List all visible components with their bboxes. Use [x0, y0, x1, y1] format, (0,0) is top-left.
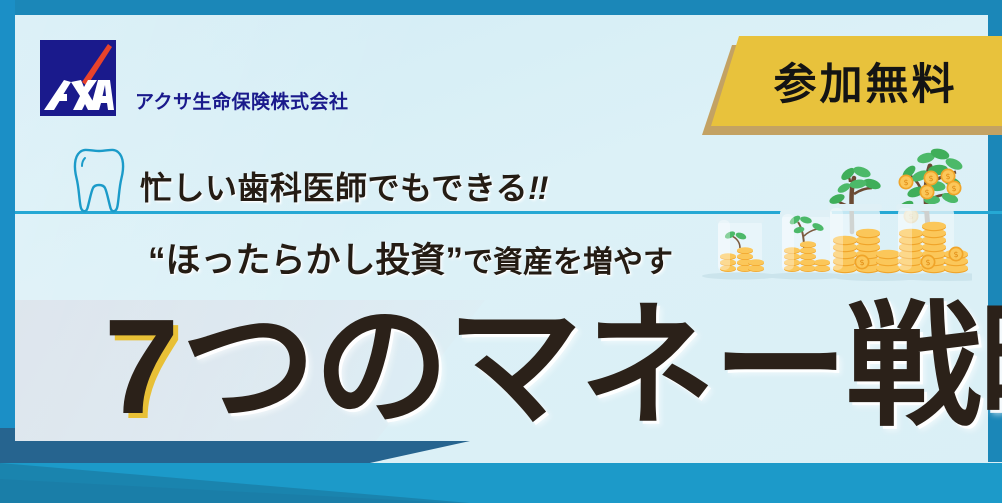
headline-secondary-tail: で資産を増やす: [463, 246, 673, 279]
border-left-teal: [0, 0, 15, 435]
title-number: 7: [104, 291, 181, 442]
badge-face: 参加無料: [711, 36, 1002, 126]
headline-secondary-quoted: ほったらかし投資: [166, 241, 446, 280]
promo-banner: アクサ生命保険株式会社 参加無料 忙しい歯科医師でもできる!! “ほったらかし投…: [0, 0, 1002, 503]
title-rest: つのマネー戦略: [181, 291, 1002, 442]
headline-secondary: “ほったらかし投資”で資産を増やす: [148, 232, 673, 283]
money-growth-illustration: $: [700, 136, 972, 284]
border-top: [0, 0, 1002, 15]
quote-close: ”: [446, 241, 464, 280]
headline-primary-text: 忙しい歯科医師でもできる: [140, 170, 528, 206]
badge-label: 参加無料: [756, 50, 958, 112]
quote-open: “: [148, 241, 166, 280]
free-participation-badge: 参加無料: [702, 36, 1002, 136]
axa-logo: [40, 40, 116, 116]
headline-primary: 忙しい歯科医師でもできる!!: [140, 163, 547, 209]
headline-primary-exclaim: !!: [528, 170, 547, 206]
page-title: 7つのマネー戦略: [104, 299, 1002, 434]
company-name: アクサ生命保険株式会社: [135, 87, 349, 114]
tooth-icon: [70, 146, 128, 216]
